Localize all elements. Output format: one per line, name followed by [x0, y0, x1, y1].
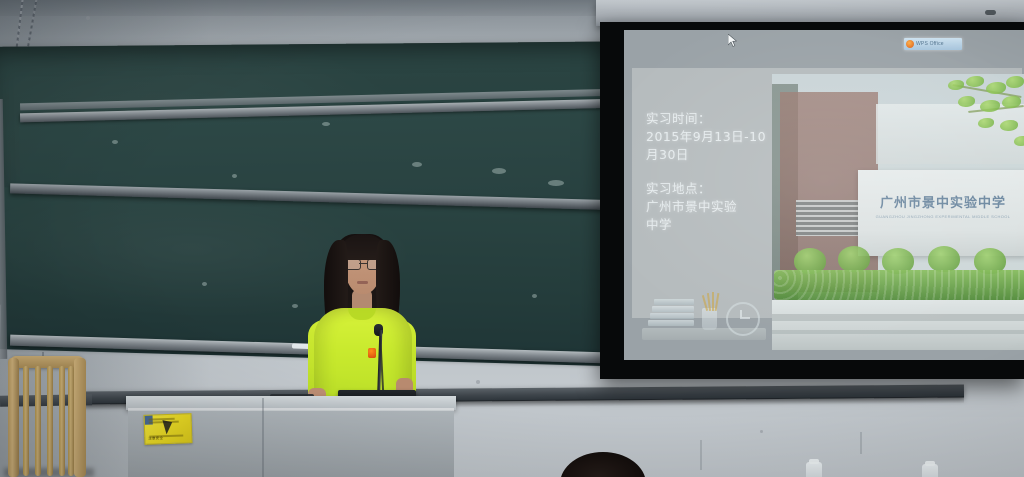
classroom-photo: 广州市景中实验中学 GUANGZHOU JINGZHONG EXPERIMENT…	[0, 0, 1024, 477]
image-vignette	[0, 0, 1024, 477]
